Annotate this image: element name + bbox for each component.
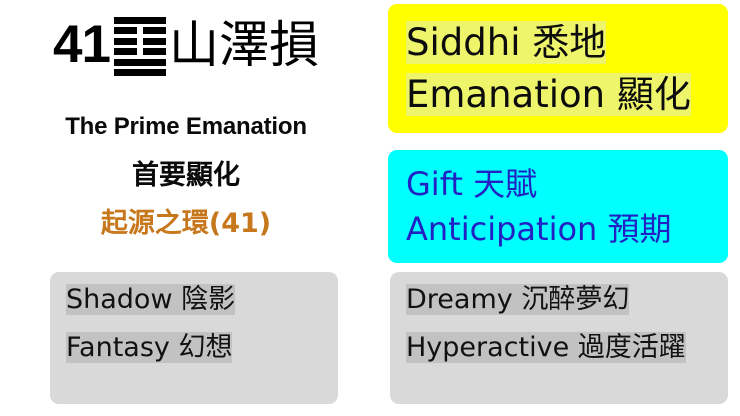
dreamy-panel: Dreamy 沉醉夢幻 Hyperactive 過度活躍 <box>390 272 728 404</box>
ring-label-row: 起源之環(41) <box>0 207 372 241</box>
hexagram-title-cjk: 山澤損 <box>169 17 319 73</box>
gift-text-1: Gift 天賦 <box>406 165 537 203</box>
siddhi-text-1: Siddhi 悉地 <box>406 21 606 64</box>
dreamy-text-2: Hyperactive 過度活躍 <box>406 332 686 363</box>
dreamy-text-1: Dreamy 沉醉夢幻 <box>406 284 629 315</box>
hexagram-line-6 <box>114 17 166 24</box>
subtitle-chinese: 首要顯化 <box>0 160 372 192</box>
siddhi-line-1: Siddhi 悉地 <box>406 17 728 69</box>
hexagram-line-5 <box>114 27 166 34</box>
gift-text-2: Anticipation 預期 <box>406 210 672 248</box>
shadow-panel: Shadow 陰影 Fantasy 幻想 <box>50 272 338 404</box>
siddhi-text-2: Emanation 顯化 <box>406 73 691 116</box>
siddhi-panel: Siddhi 悉地 Emanation 顯化 <box>388 4 728 133</box>
slide-canvas: 41 山澤損 The Prime Emanation 首要顯化 起源之環(41)… <box>0 0 740 416</box>
subtitle-english: The Prime Emanation <box>0 112 372 142</box>
gift-line-1: Gift 天賦 <box>406 162 728 207</box>
shadow-text-1: Shadow 陰影 <box>66 284 235 315</box>
ring-label: 起源之環(41) <box>101 207 271 241</box>
dreamy-line-2: Hyperactive 過度活躍 <box>406 328 728 368</box>
hexagram-41-icon <box>114 17 166 76</box>
hexagram-line-4 <box>114 38 166 45</box>
hexagram-line-2 <box>114 59 166 66</box>
siddhi-line-2: Emanation 顯化 <box>406 69 728 121</box>
gift-line-2: Anticipation 預期 <box>406 207 728 252</box>
hexagram-line-1 <box>114 69 166 76</box>
gift-panel: Gift 天賦 Anticipation 預期 <box>388 150 728 263</box>
dreamy-line-1: Dreamy 沉醉夢幻 <box>406 280 728 320</box>
shadow-line-2: Fantasy 幻想 <box>66 328 338 368</box>
hexagram-line-3 <box>114 48 166 55</box>
header-column: 41 山澤損 The Prime Emanation 首要顯化 起源之環(41) <box>0 0 372 262</box>
shadow-line-1: Shadow 陰影 <box>66 280 338 320</box>
hexagram-number: 41 <box>53 17 110 73</box>
shadow-text-2: Fantasy 幻想 <box>66 332 232 363</box>
hexagram-title-row: 41 山澤損 <box>0 16 372 75</box>
